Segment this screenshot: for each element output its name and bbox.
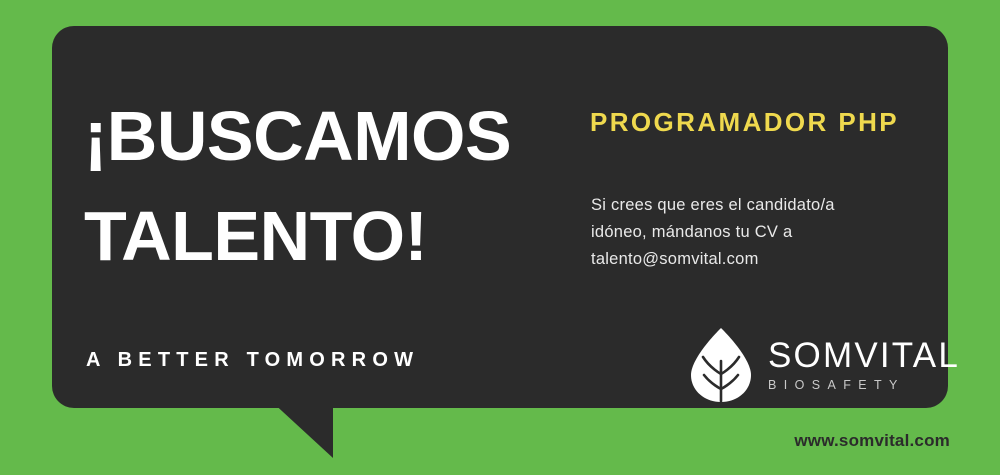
speech-bubble-tail <box>270 400 333 458</box>
website-url[interactable]: www.somvital.com <box>794 431 950 451</box>
page-title: ¡BUSCAMOS TALENTO! <box>84 86 554 286</box>
logo-company-subtitle: BIOSAFETY <box>768 378 907 392</box>
logo-company-name: SOMVITAL <box>768 336 960 375</box>
leaf-droplet-icon <box>690 327 752 403</box>
job-description-text: Si crees que eres el candidato/a idóneo,… <box>591 192 901 273</box>
job-position-title: PROGRAMADOR PHP <box>590 107 899 138</box>
recruitment-poster: ¡BUSCAMOS TALENTO! A BETTER TOMORROW PRO… <box>0 0 1000 475</box>
company-logo: SOMVITAL BIOSAFETY <box>690 327 1000 403</box>
brand-tagline: A BETTER TOMORROW <box>86 349 419 372</box>
logo-wordmark: SOMVITAL BIOSAFETY <box>768 335 1000 395</box>
